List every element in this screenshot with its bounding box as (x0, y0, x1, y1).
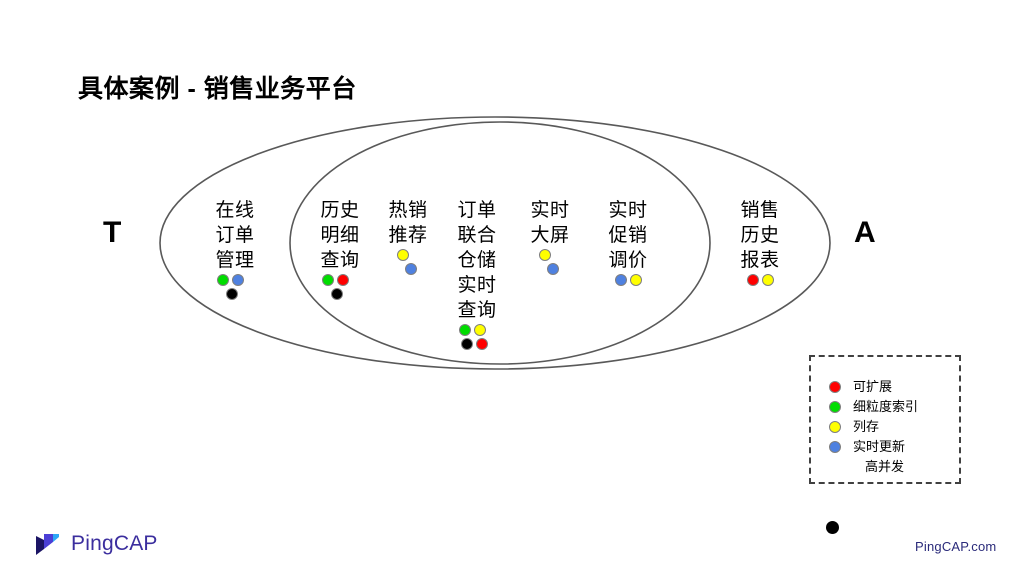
label-a: A (854, 216, 876, 250)
dot-green (322, 274, 334, 286)
legend-item-scalable: 可扩展 (829, 377, 959, 397)
node-realtime-dashboard[interactable]: 实时 大屏 (510, 198, 590, 275)
legend-box: 可扩展 细粒度索引 列存 实时更新 高并发 (809, 355, 961, 484)
brand-name: PingCAP (71, 532, 158, 556)
legend-label: 实时更新 (853, 437, 905, 457)
pingcap-logo: PingCAP (33, 529, 158, 559)
legend-label: 列存 (853, 417, 879, 437)
dot-yellow (397, 249, 409, 261)
legend-label: 可扩展 (853, 377, 892, 397)
dot-blue (405, 263, 417, 275)
node-dots (300, 274, 380, 300)
dot-black (226, 288, 238, 300)
label-t: T (103, 216, 121, 250)
legend-label: 细粒度索引 (853, 397, 918, 417)
legend-sublabel-high-concurrency: 高并发 (865, 457, 959, 477)
dot-yellow (474, 324, 486, 336)
dot-row (331, 288, 343, 300)
page-title: 具体案例 - 销售业务平台 (78, 69, 357, 105)
dot-red (476, 338, 488, 350)
dot-yellow (630, 274, 642, 286)
dot-row (217, 274, 244, 286)
node-dots (195, 274, 275, 300)
node-dots (368, 249, 448, 275)
dot-blue (615, 274, 627, 286)
dot-row (615, 274, 642, 286)
dot-row (747, 274, 774, 286)
node-dots (588, 274, 668, 286)
node-label: 热销 推荐 (368, 198, 448, 248)
legend-item-fine-grained-index: 细粒度索引 (829, 397, 959, 417)
node-label: 订单 联合 仓储 实时 查询 (437, 198, 517, 323)
dot-row (226, 288, 238, 300)
dot-red (747, 274, 759, 286)
dot-row (459, 324, 486, 336)
dot-green (459, 324, 471, 336)
stray-black-dot (826, 521, 839, 534)
node-label: 销售 历史 报表 (720, 198, 800, 273)
node-label: 实时 促销 调价 (588, 198, 668, 273)
slide-canvas: 具体案例 - 销售业务平台 T A 在线 订单 管理 历史 明细 查询 (0, 0, 1032, 578)
node-realtime-promotion-pricing[interactable]: 实时 促销 调价 (588, 198, 668, 286)
node-dots (510, 249, 590, 275)
dot-row (322, 274, 349, 286)
node-dots (437, 324, 517, 350)
node-label: 在线 订单 管理 (195, 198, 275, 273)
legend-item-realtime-update: 实时更新 (829, 437, 959, 457)
footer-url: PingCAP.com (915, 539, 996, 554)
legend-dot-red (829, 381, 841, 393)
dot-red (337, 274, 349, 286)
node-label: 实时 大屏 (510, 198, 590, 248)
dot-green (217, 274, 229, 286)
legend-dot-green (829, 401, 841, 413)
node-order-warehouse-realtime-query[interactable]: 订单 联合 仓储 实时 查询 (437, 198, 517, 350)
legend-item-columnar-storage: 列存 (829, 417, 959, 437)
dot-blue (232, 274, 244, 286)
dot-black (331, 288, 343, 300)
legend-dot-blue (829, 441, 841, 453)
pingcap-logo-icon (33, 529, 63, 559)
dot-blue (547, 263, 559, 275)
legend-dot-yellow (829, 421, 841, 433)
dot-black (461, 338, 473, 350)
dot-yellow (539, 249, 551, 261)
dot-row (461, 338, 488, 350)
node-online-order-management[interactable]: 在线 订单 管理 (195, 198, 275, 300)
node-dots (720, 274, 800, 286)
dot-yellow (762, 274, 774, 286)
node-hot-sale-recommendation[interactable]: 热销 推荐 (368, 198, 448, 275)
node-sales-history-report[interactable]: 销售 历史 报表 (720, 198, 800, 286)
legend-list: 可扩展 细粒度索引 列存 实时更新 高并发 (811, 357, 959, 477)
